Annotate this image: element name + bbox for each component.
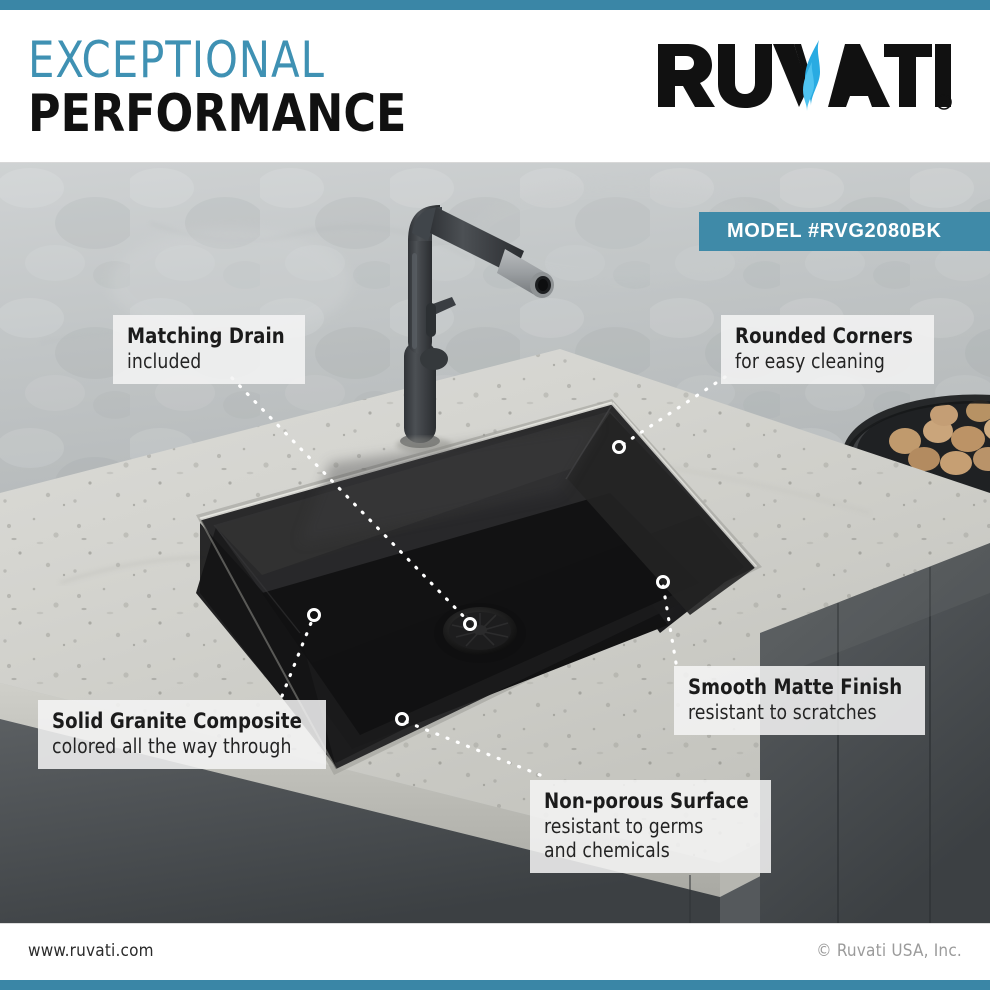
page-title: EXCEPTIONAL PERFORMANCE [28, 34, 426, 142]
callout-subtitle: resistant to scratches [688, 700, 902, 724]
model-badge-label: MODEL #RVG2080BK [727, 220, 942, 243]
footer-copyright: © Ruvati USA, Inc. [816, 941, 962, 961]
footer-website[interactable]: www.ruvati.com [28, 941, 154, 961]
callout-rounded-corners: Rounded Corners for easy cleaning [721, 315, 934, 384]
callout-smooth-matte-finish: Smooth Matte Finish resistant to scratch… [674, 666, 925, 735]
callout-matching-drain: Matching Drain included [113, 315, 305, 384]
callout-subtitle: colored all the way through [52, 734, 302, 758]
footer-divider [0, 923, 990, 924]
callout-non-porous-surface: Non-porous Surface resistant to germs an… [530, 780, 771, 873]
callout-title: Non-porous Surface [544, 789, 749, 814]
callout-title: Matching Drain [127, 324, 285, 349]
title-line-performance: PERFORMANCE [28, 86, 406, 142]
callout-title: Smooth Matte Finish [688, 675, 902, 700]
svg-text:R: R [941, 98, 948, 108]
sink-drain [434, 603, 526, 663]
top-accent-bar [0, 0, 990, 10]
footer: www.ruvati.com © Ruvati USA, Inc. [0, 923, 990, 980]
callout-subtitle: included [127, 349, 285, 373]
callout-subtitle: for easy cleaning [735, 349, 913, 373]
bottom-accent-bar [0, 980, 990, 990]
callout-subtitle-2: and chemicals [544, 838, 749, 862]
product-photo: MODEL #RVG2080BK Matching Drain included… [0, 163, 990, 923]
callout-subtitle: resistant to germs [544, 814, 749, 838]
callout-title: Solid Granite Composite [52, 709, 302, 734]
ruvati-logo[interactable]: R [654, 38, 954, 116]
callout-title: Rounded Corners [735, 324, 913, 349]
header-divider [0, 162, 990, 163]
callout-solid-granite-composite: Solid Granite Composite colored all the … [38, 700, 326, 769]
header: EXCEPTIONAL PERFORMANCE R [0, 10, 990, 163]
model-badge: MODEL #RVG2080BK [699, 212, 990, 251]
title-line-exceptional: EXCEPTIONAL [28, 34, 398, 86]
